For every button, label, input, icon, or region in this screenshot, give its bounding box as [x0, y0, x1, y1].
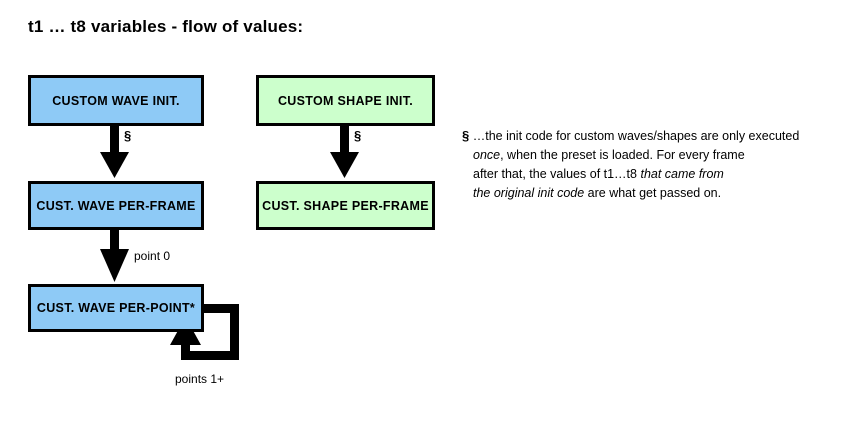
edge-label-shape-init-section: § [354, 128, 361, 143]
footnote-line-2-text: , when the preset is loaded. For every f… [500, 148, 745, 162]
node-cust-wave-per-point[interactable]: CUST. WAVE PER-POINT* [28, 284, 204, 332]
node-label: CUST. SHAPE PER-FRAME [262, 199, 429, 213]
footnote-line-4-italic: the original init code [473, 186, 584, 200]
node-label: CUST. WAVE PER-FRAME [36, 199, 195, 213]
node-cust-shape-per-frame[interactable]: CUST. SHAPE PER-FRAME [256, 181, 435, 230]
node-cust-wave-per-frame[interactable]: CUST. WAVE PER-FRAME [28, 181, 204, 230]
node-custom-shape-init[interactable]: CUSTOM SHAPE INIT. [256, 75, 435, 126]
footnote-line-3-italic: that came from [640, 167, 723, 181]
footnote-line-3: after that, the values of t1…t8 that cam… [462, 165, 842, 184]
footnote-line-3-text: after that, the values of t1…t8 [473, 167, 640, 181]
edge-label-point-0: point 0 [134, 249, 170, 263]
node-label: CUSTOM WAVE INIT. [52, 94, 180, 108]
footnote-line-4-text: are what get passed on. [584, 186, 721, 200]
node-custom-wave-init[interactable]: CUSTOM WAVE INIT. [28, 75, 204, 126]
footnote-note: § …the init code for custom waves/shapes… [462, 126, 842, 203]
edge-label-wave-init-section: § [124, 128, 131, 143]
footnote-line-2: once, when the preset is loaded. For eve… [462, 146, 842, 165]
edge-label-points-1-plus: points 1+ [175, 372, 224, 386]
footnote-line-2-italic: once [473, 148, 500, 162]
diagram-canvas: t1 … t8 variables - flow of values: CUST… [0, 0, 850, 429]
section-symbol-icon: § [462, 128, 469, 143]
node-label: CUSTOM SHAPE INIT. [278, 94, 413, 108]
footnote-line-4: the original init code are what get pass… [462, 184, 842, 203]
footnote-line-1-text: …the init code for custom waves/shapes a… [473, 129, 800, 143]
footnote-line-1: § …the init code for custom waves/shapes… [462, 126, 842, 146]
arrow-per-frame-to-per-point [100, 229, 129, 282]
node-label: CUST. WAVE PER-POINT* [37, 301, 195, 315]
